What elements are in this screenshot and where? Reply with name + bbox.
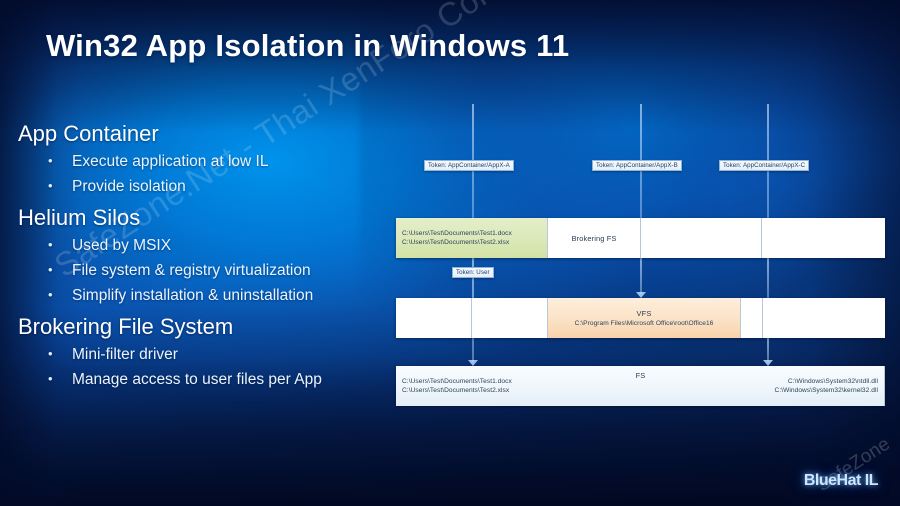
vfs-empty-cell-b (472, 298, 548, 338)
bullet-list: Mini-filter driver Manage access to user… (18, 342, 398, 392)
list-item: File system & registry virtualization (18, 258, 398, 283)
brokering-empty-cell-b (641, 218, 762, 258)
list-item: Manage access to user files per App (18, 367, 398, 392)
token-chip-user: Token: User (452, 267, 494, 278)
section-brokering-file-system: Brokering File System Mini-filter driver… (18, 311, 398, 392)
file-path: C:\Program Files\Microsoft Office\root\O… (548, 319, 740, 329)
file-path: C:\Users\Test\Documents\Test2.xlsx (402, 386, 640, 396)
diagram-row-fs: C:\Users\Test\Documents\Test1.docx C:\Us… (396, 366, 885, 406)
list-item: Mini-filter driver (18, 342, 398, 367)
brokering-fs-label-cell: Brokering FS (548, 218, 641, 258)
token-chip-appcontainer-appx-b: Token: AppContainer/AppX-B (592, 160, 682, 171)
token-chip-appcontainer-appx-c: Token: AppContainer/AppX-C (719, 160, 809, 171)
list-item: Execute application at low IL (18, 149, 398, 174)
bullet-list: Execute application at low IL Provide is… (18, 149, 398, 199)
diagram-row-brokering-fs: C:\Users\Test\Documents\Test1.docx C:\Us… (396, 218, 885, 258)
diagram-row-vfs: VFS C:\Program Files\Microsoft Office\ro… (396, 298, 885, 338)
architecture-diagram: Token: AppContainer/AppX-A Token: AppCon… (396, 104, 886, 414)
brokering-user-files-cell: C:\Users\Test\Documents\Test1.docx C:\Us… (396, 218, 548, 258)
token-chip-appcontainer-appx-a: Token: AppContainer/AppX-A (424, 160, 514, 171)
list-item: Simplify installation & uninstallation (18, 283, 398, 308)
file-path: C:\Windows\System32\kernel32.dll (640, 386, 878, 396)
file-path: C:\Users\Test\Documents\Test2.xlsx (402, 238, 547, 248)
page-title: Win32 App Isolation in Windows 11 (46, 28, 569, 64)
bluehat-logo: BlueHat IL (804, 472, 878, 490)
section-heading: Helium Silos (18, 202, 398, 233)
section-heading: App Container (18, 118, 398, 149)
row-title: Brokering FS (548, 233, 640, 244)
vfs-empty-cell-a (396, 298, 472, 338)
vfs-empty-cell-c (741, 298, 763, 338)
list-item: Provide isolation (18, 174, 398, 199)
section-app-container: App Container Execute application at low… (18, 118, 398, 199)
content-column: App Container Execute application at low… (18, 118, 398, 395)
row-title: FS (396, 370, 885, 381)
row-title: VFS (548, 308, 740, 319)
section-heading: Brokering File System (18, 311, 398, 342)
list-item: Used by MSIX (18, 233, 398, 258)
flow-line-appx-b-lower (640, 258, 642, 294)
file-path: C:\Users\Test\Documents\Test1.docx (402, 229, 547, 239)
vfs-empty-cell-d (763, 298, 885, 338)
section-helium-silos: Helium Silos Used by MSIX File system & … (18, 202, 398, 308)
flow-line-appx-c-mid (767, 258, 769, 298)
flow-line-appx-c-lower (767, 338, 769, 362)
bullet-list: Used by MSIX File system & registry virt… (18, 233, 398, 308)
slide-canvas: Win32 App Isolation in Windows 11 App Co… (0, 0, 900, 506)
vfs-office-cell: VFS C:\Program Files\Microsoft Office\ro… (548, 298, 741, 338)
brokering-empty-cell-c (762, 218, 885, 258)
